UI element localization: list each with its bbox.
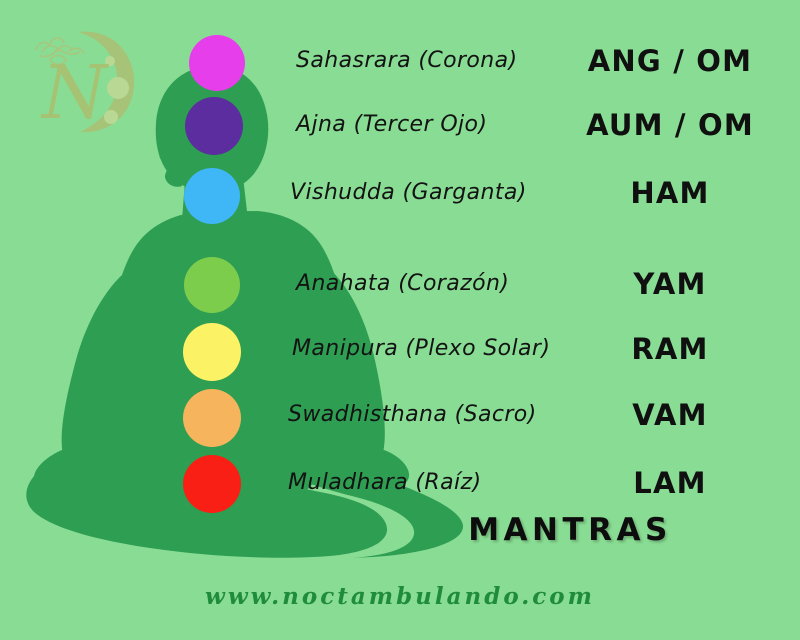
chakra-circle-3 — [184, 257, 240, 313]
chakra-mantra-5: VAM — [585, 398, 755, 432]
chakra-label-1: Ajna (Tercer Ojo) — [296, 112, 487, 137]
chakra-circle-6 — [183, 455, 241, 513]
chakra-circle-0 — [189, 35, 245, 91]
chakra-label-5: Swadhisthana (Sacro) — [288, 402, 537, 427]
chakra-label-3: Anahata (Corazón) — [296, 271, 509, 296]
mantras-title: MANTRAS — [440, 512, 700, 548]
chakra-mantra-3: YAM — [585, 267, 755, 301]
chakra-poster: N Sahasrara (Corona)ANG / OMAjna (Tercer… — [0, 0, 800, 640]
chakra-label-4: Manipura (Plexo Solar) — [292, 336, 550, 361]
chakra-circle-5 — [183, 389, 241, 447]
chakra-mantra-4: RAM — [585, 332, 755, 366]
chakra-mantra-0: ANG / OM — [585, 44, 755, 78]
website-url: www.noctambulando.com — [0, 583, 800, 610]
chakra-circle-4 — [183, 323, 241, 381]
chakra-mantra-6: LAM — [585, 466, 755, 500]
chakra-circle-1 — [185, 97, 243, 155]
chakra-label-6: Muladhara (Raíz) — [288, 470, 481, 495]
chakra-label-2: Vishudda (Garganta) — [290, 180, 527, 205]
chakra-label-0: Sahasrara (Corona) — [296, 48, 518, 73]
chakra-mantra-2: HAM — [585, 176, 755, 210]
chakra-mantra-1: AUM / OM — [585, 108, 755, 142]
chakra-circle-2 — [184, 168, 240, 224]
